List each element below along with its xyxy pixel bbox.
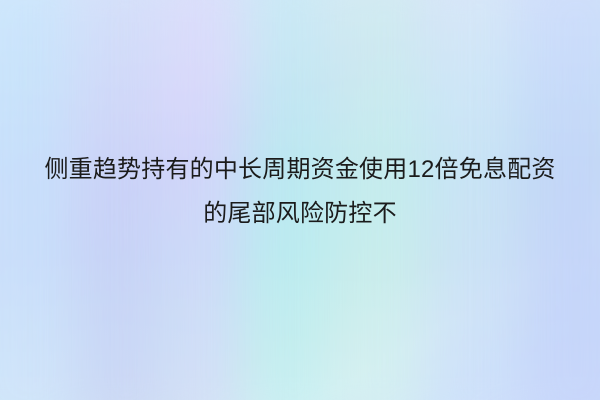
headline-line-2: 的尾部风险防控不	[8, 192, 592, 236]
image-canvas: 侧重趋势持有的中长周期资金使用12倍免息配资 的尾部风险防控不	[0, 0, 600, 400]
headline-text: 侧重趋势持有的中长周期资金使用12倍免息配资 的尾部风险防控不	[0, 148, 600, 236]
headline-line-1: 侧重趋势持有的中长周期资金使用12倍免息配资	[8, 148, 592, 192]
